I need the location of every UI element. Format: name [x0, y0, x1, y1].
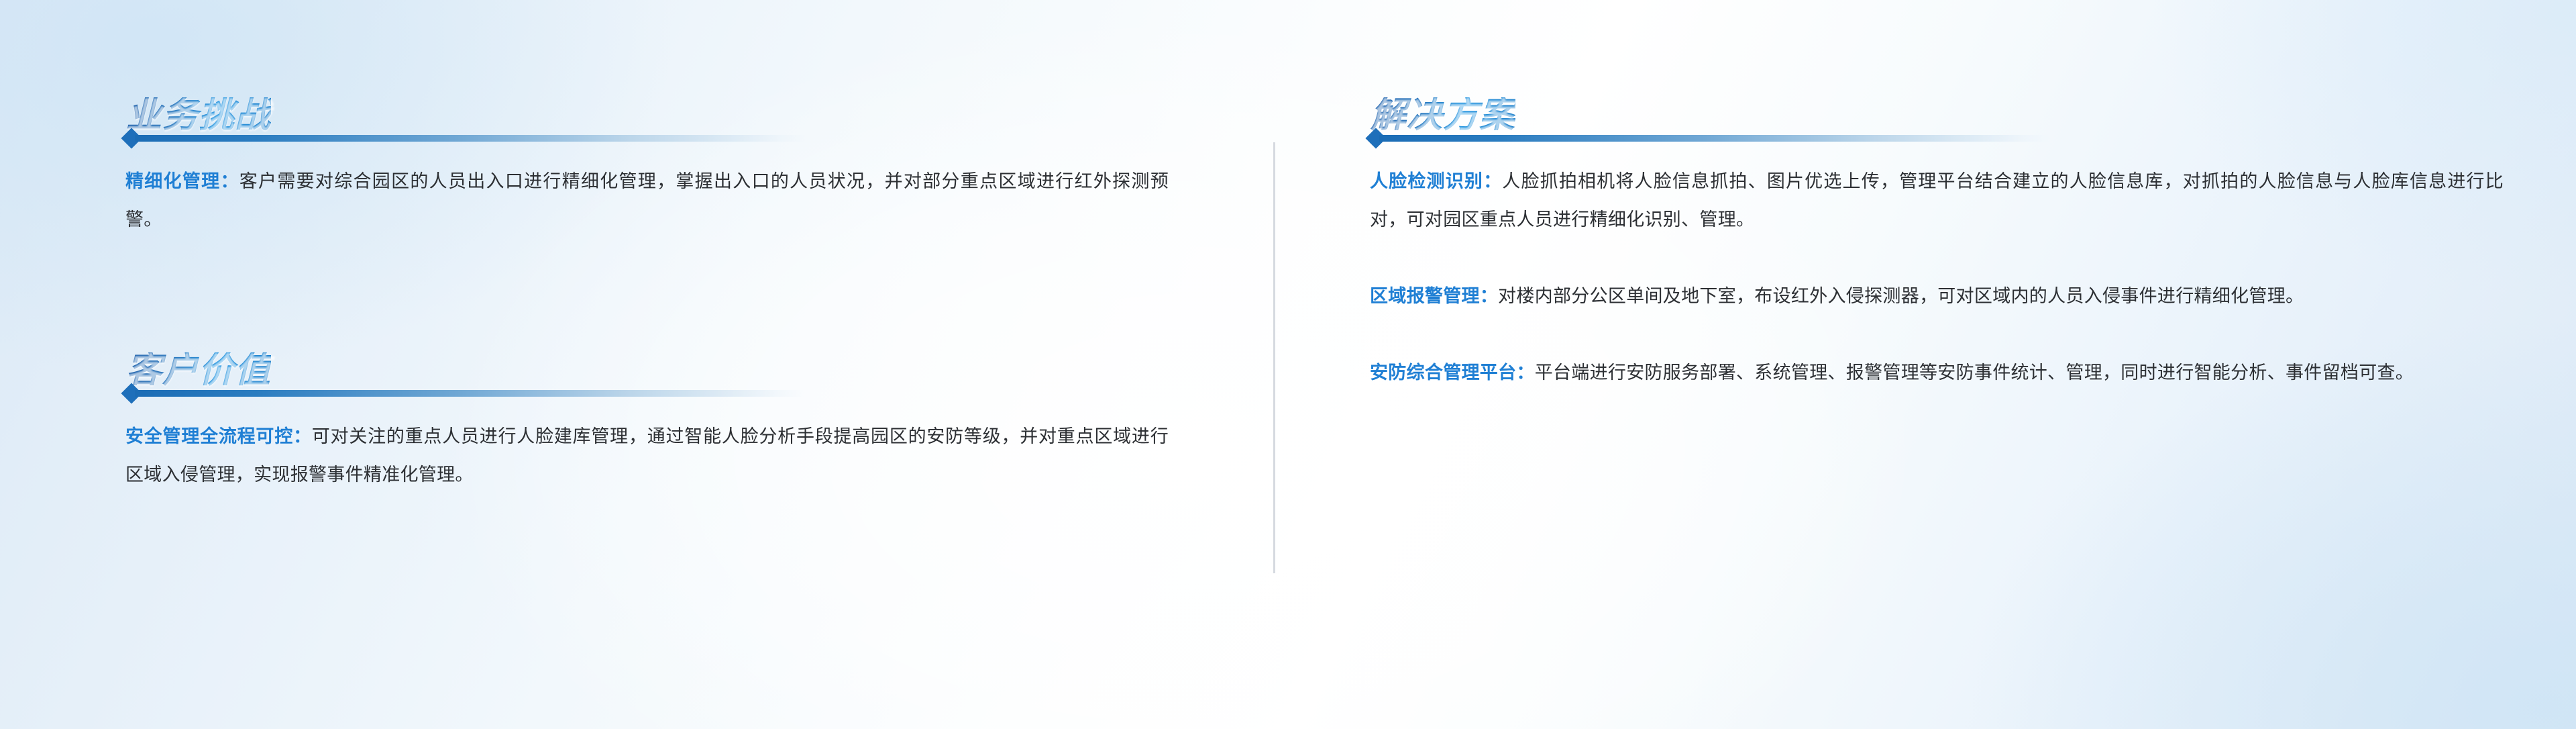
slide-content: 业务挑战 精细化管理：客户需要对综合园区的人员出入口进行精细化管理，掌握出入口的… — [0, 0, 2576, 729]
section-customer-value: 客户价值 安全管理全流程可控：可对关注的重点人员进行人脸建库管理，通过智能人脸分… — [124, 330, 1171, 405]
paragraph-lead-label: 区域报警管理： — [1370, 286, 1498, 307]
heading-rule — [1368, 126, 2509, 150]
paragraph-lead-label: 安防综合管理平台： — [1370, 362, 1535, 383]
paragraph-body-text: 客户需要对综合园区的人员出入口进行精细化管理，掌握出入口的人员状况，并对部分重点… — [125, 171, 1169, 230]
paragraph-customer-value: 安全管理全流程可控：可对关注的重点人员进行人脸建库管理，通过智能人脸分析手段提高… — [125, 418, 1169, 494]
heading-rule — [124, 381, 1171, 405]
heading-rule — [124, 126, 1171, 150]
paragraph-lead-label: 安全管理全流程可控： — [125, 426, 312, 447]
section-solution: 解决方案 人脸检测识别：人脸抓拍相机将人脸信息抓拍、图片优选上传，管理平台结合建… — [1368, 75, 2509, 150]
section-heading-solution: 解决方案 — [1368, 75, 2509, 150]
heading-underline — [135, 135, 806, 142]
section-business-challenge: 业务挑战 精细化管理：客户需要对综合园区的人员出入口进行精细化管理，掌握出入口的… — [124, 75, 1171, 150]
paragraph-lead-label: 人脸检测识别： — [1370, 171, 1502, 192]
heading-underline — [135, 390, 806, 397]
paragraph-body-text: 平台端进行安防服务部署、系统管理、报警管理等安防事件统计、管理，同时进行智能分析… — [1535, 362, 2414, 383]
paragraph-business-challenge: 精细化管理：客户需要对综合园区的人员出入口进行精细化管理，掌握出入口的人员状况，… — [125, 162, 1169, 239]
paragraph-lead-label: 精细化管理： — [125, 171, 239, 192]
paragraph-security-platform: 安防综合管理平台：平台端进行安防服务部署、系统管理、报警管理等安防事件统计、管理… — [1370, 354, 2504, 392]
section-heading-business-challenge: 业务挑战 — [124, 75, 1171, 150]
heading-underline — [1379, 135, 2050, 142]
paragraph-body-text: 对楼内部分公区单间及地下室，布设红外入侵探测器，可对区域内的人员入侵事件进行精细… — [1498, 286, 2304, 307]
section-heading-customer-value: 客户价值 — [124, 330, 1171, 405]
paragraph-body-text: 人脸抓拍相机将人脸信息抓拍、图片优选上传，管理平台结合建立的人脸信息库，对抓拍的… — [1370, 171, 2504, 230]
paragraph-area-alarm: 区域报警管理：对楼内部分公区单间及地下室，布设红外入侵探测器，可对区域内的人员入… — [1370, 277, 2504, 315]
paragraph-face-detection: 人脸检测识别：人脸抓拍相机将人脸信息抓拍、图片优选上传，管理平台结合建立的人脸信… — [1370, 162, 2504, 239]
